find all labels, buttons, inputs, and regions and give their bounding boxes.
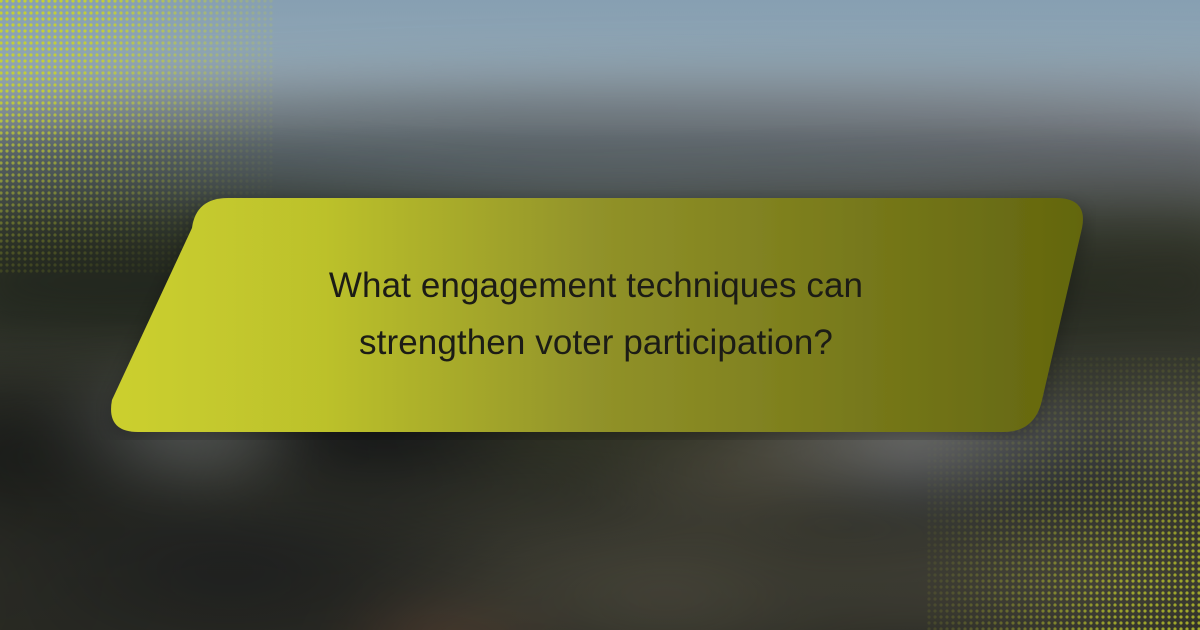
question-text-block: What engagement techniques can strengthe… xyxy=(96,190,1096,440)
question-text: What engagement techniques can strengthe… xyxy=(246,258,946,371)
question-card: What engagement techniques can strengthe… xyxy=(96,190,1096,440)
social-card-canvas: What engagement techniques can strengthe… xyxy=(0,0,1200,630)
